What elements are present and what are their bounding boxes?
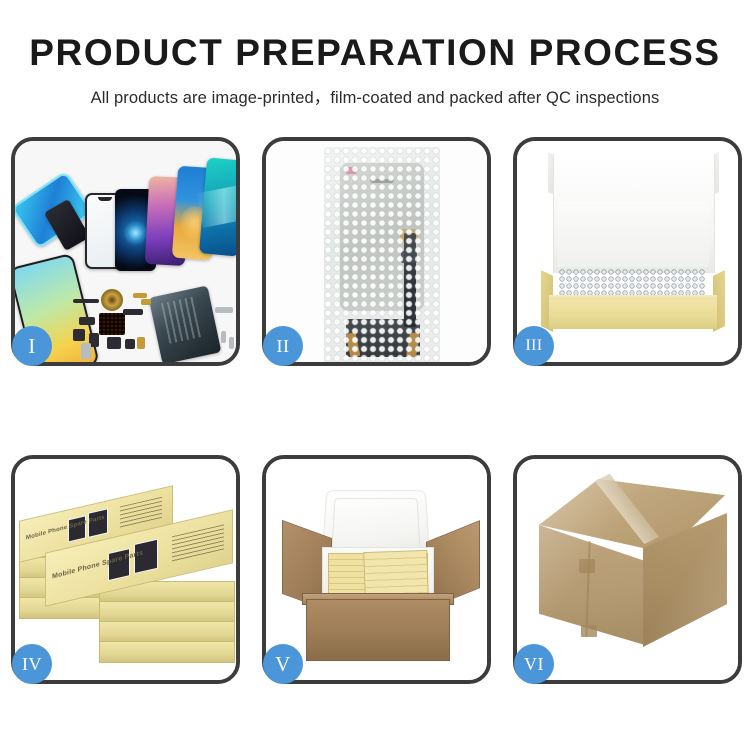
yellow-boxes-row-right bbox=[363, 550, 429, 598]
flex-cable-part bbox=[123, 309, 143, 315]
gold-contact-part bbox=[137, 337, 145, 349]
tweezers-tool bbox=[215, 307, 233, 313]
step-panel-1[interactable]: I bbox=[11, 137, 240, 366]
process-steps-grid: I II bbox=[11, 137, 742, 684]
screw-part-a bbox=[221, 331, 226, 343]
step-badge-3: III bbox=[514, 326, 554, 366]
small-ic-part bbox=[73, 329, 85, 341]
step-badge-6: VI bbox=[514, 644, 554, 684]
step-image-4: Mobile Phone Spare Parts Mobile Phone Sp… bbox=[15, 459, 236, 680]
step-panel-6[interactable]: VI bbox=[513, 455, 742, 684]
speaker-part bbox=[107, 337, 121, 349]
page-title: PRODUCT PREPARATION PROCESS bbox=[0, 34, 750, 73]
sim-tray-part bbox=[81, 343, 91, 359]
box-spec-lines-back bbox=[120, 497, 162, 529]
box-spec-lines-front bbox=[172, 524, 224, 562]
button-part bbox=[125, 339, 135, 349]
step-badge-1: I bbox=[12, 326, 52, 366]
chip-array-part bbox=[99, 313, 125, 335]
camera-module-part bbox=[79, 317, 95, 325]
bubble-wrap-bag bbox=[324, 147, 440, 362]
bubble-wrap-texture bbox=[324, 147, 440, 362]
step-image-6 bbox=[517, 459, 738, 680]
phone-motherboard bbox=[149, 286, 222, 362]
page-subtitle: All products are image-printed，film-coat… bbox=[0, 84, 750, 108]
box-tray-front-yellow bbox=[549, 299, 717, 329]
step-image-2 bbox=[266, 141, 487, 362]
gold-flex-part bbox=[141, 299, 151, 305]
screw-part-b bbox=[229, 337, 234, 349]
step-badge-2: II bbox=[263, 326, 303, 366]
foam-sheet bbox=[557, 201, 709, 267]
step-image-3 bbox=[517, 141, 738, 362]
box-slab-front-2 bbox=[99, 601, 235, 623]
carton-sticker-lower bbox=[581, 625, 597, 637]
step-badge-5: V bbox=[263, 644, 303, 684]
gold-connector-part bbox=[133, 293, 147, 298]
step-panel-3[interactable]: III bbox=[513, 137, 742, 366]
box-slab-front-3 bbox=[99, 621, 235, 643]
step-image-1 bbox=[15, 141, 236, 362]
step-panel-5[interactable]: V bbox=[262, 455, 491, 684]
step-image-5 bbox=[266, 459, 487, 680]
carton-sticker-upper bbox=[579, 559, 595, 573]
step-badge-4: IV bbox=[12, 644, 52, 684]
page-header: PRODUCT PREPARATION PROCESS All products… bbox=[0, 0, 750, 108]
step-panel-4[interactable]: Mobile Phone Spare Parts Mobile Phone Sp… bbox=[11, 455, 240, 684]
carton-front-panel bbox=[306, 599, 450, 661]
box-slab-front-4 bbox=[99, 641, 235, 663]
earpiece-speaker-part bbox=[73, 299, 99, 303]
vibration-motor-part bbox=[101, 289, 123, 311]
step-panel-2[interactable]: II bbox=[262, 137, 491, 366]
